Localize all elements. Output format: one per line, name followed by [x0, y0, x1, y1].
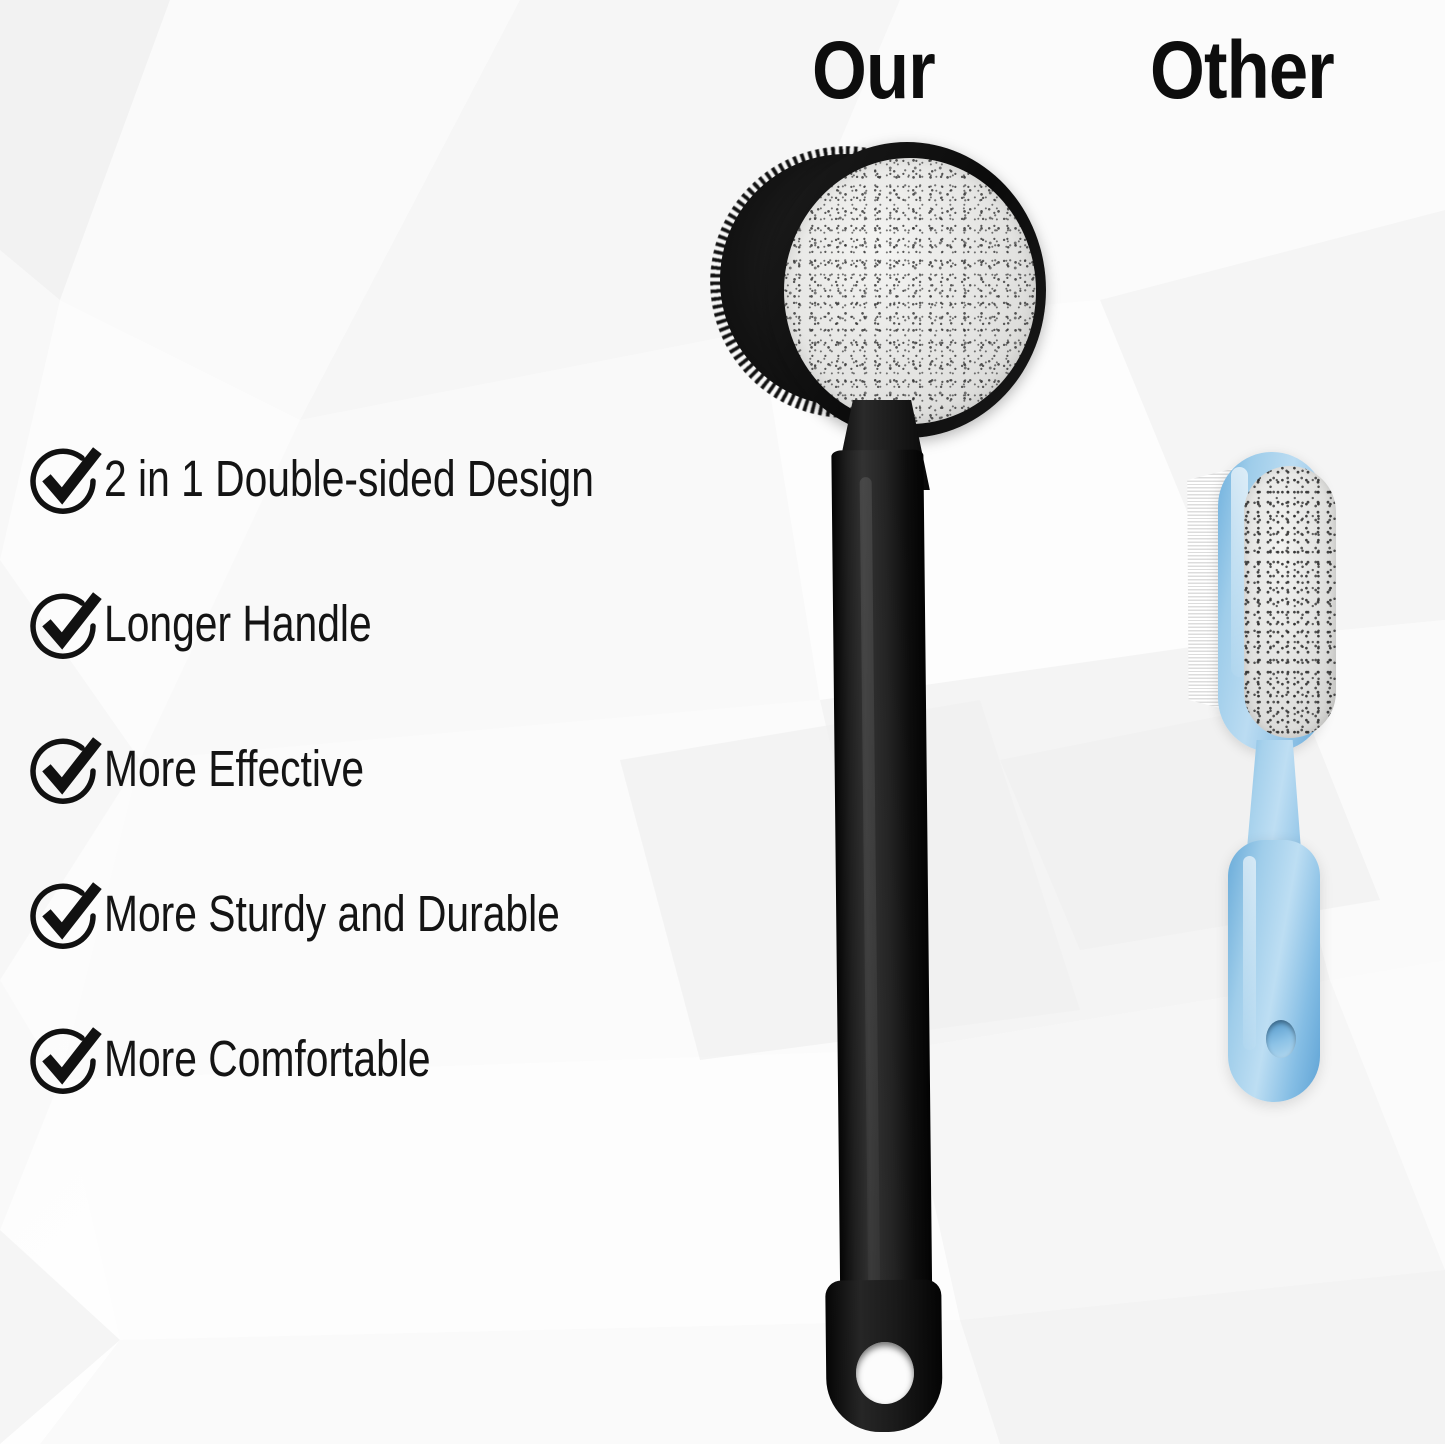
check-circle-icon — [30, 735, 102, 807]
check-circle-icon — [30, 590, 102, 662]
our-product-image — [700, 120, 1080, 1440]
feature-label: More Sturdy and Durable — [104, 878, 560, 946]
check-circle-icon — [30, 1025, 102, 1097]
feature-label: 2 in 1 Double-sided Design — [104, 443, 594, 511]
other-pumice-stone — [1244, 466, 1336, 738]
column-header-other: Other — [1150, 30, 1334, 112]
product-comparison-image: Our Other 2 in 1 Double-sided Design Lon… — [0, 0, 1445, 1444]
our-pumice-stone — [784, 158, 1036, 424]
our-handle-shaft — [831, 450, 932, 1341]
other-handle-grip — [1228, 840, 1320, 1102]
feature-label: More Effective — [104, 733, 364, 801]
feature-label: Longer Handle — [104, 588, 372, 656]
feature-label: More Comfortable — [104, 1023, 431, 1091]
our-hanging-hole — [856, 1342, 915, 1405]
other-hanging-hole — [1266, 1020, 1296, 1058]
check-circle-icon — [30, 880, 102, 952]
other-product-image — [1160, 440, 1410, 1090]
column-header-our: Our — [812, 30, 935, 112]
check-circle-icon — [30, 445, 102, 517]
